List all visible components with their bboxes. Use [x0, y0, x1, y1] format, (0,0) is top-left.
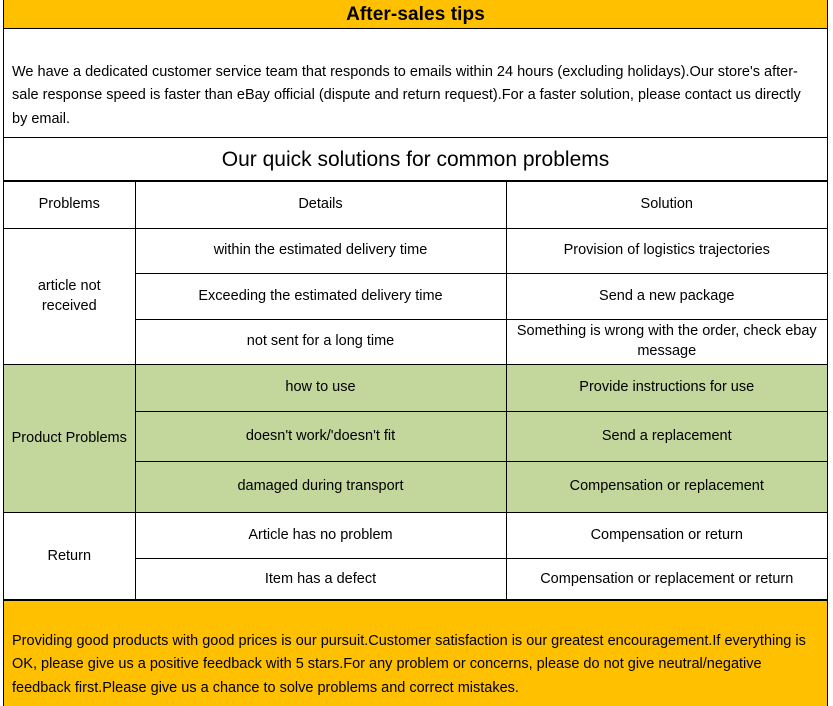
solution-cell: Send a replacement: [506, 412, 827, 462]
solutions-table: Problems Details Solution article not re…: [4, 181, 827, 602]
after-sales-tips-sheet: After-sales tips We have a dedicated cus…: [0, 0, 833, 706]
table-row: Product Problems how to use Provide inst…: [4, 365, 827, 412]
solution-cell: Something is wrong with the order, check…: [506, 320, 827, 365]
footer-text: Providing good products with good prices…: [12, 630, 819, 700]
detail-cell: Item has a defect: [135, 559, 506, 602]
banner-title: After-sales tips: [346, 5, 485, 24]
intro-block: We have a dedicated customer service tea…: [3, 29, 828, 138]
solution-cell: Provision of logistics trajectories: [506, 229, 827, 274]
solution-cell: Compensation or return: [506, 513, 827, 559]
solutions-table-wrapper: Problems Details Solution article not re…: [3, 181, 828, 600]
detail-cell: Article has no problem: [135, 513, 506, 559]
detail-cell: doesn't work/'doesn't fit: [135, 412, 506, 462]
table-row: article not received within the estimate…: [4, 229, 827, 274]
group-label-product-problems: Product Problems: [4, 365, 135, 513]
detail-cell: not sent for a long time: [135, 320, 506, 365]
footer-block: Providing good products with good prices…: [3, 600, 828, 706]
detail-cell: damaged during transport: [135, 462, 506, 513]
section-title-row: Our quick solutions for common problems: [3, 138, 828, 181]
table-row: Return Article has no problem Compensati…: [4, 513, 827, 559]
solution-cell: Compensation or replacement or return: [506, 559, 827, 602]
section-title: Our quick solutions for common problems: [222, 149, 610, 170]
detail-cell: within the estimated delivery time: [135, 229, 506, 274]
solution-cell: Compensation or replacement: [506, 462, 827, 513]
group-label-article-not-received: article not received: [4, 229, 135, 365]
banner: After-sales tips: [3, 0, 828, 29]
column-header-details: Details: [135, 182, 506, 229]
detail-cell: how to use: [135, 365, 506, 412]
intro-text: We have a dedicated customer service tea…: [12, 61, 819, 131]
solution-cell: Send a new package: [506, 274, 827, 320]
column-header-problems: Problems: [4, 182, 135, 229]
detail-cell: Exceeding the estimated delivery time: [135, 274, 506, 320]
solution-cell: Provide instructions for use: [506, 365, 827, 412]
table-header-row: Problems Details Solution: [4, 182, 827, 229]
column-header-solution: Solution: [506, 182, 827, 229]
group-label-return: Return: [4, 513, 135, 602]
